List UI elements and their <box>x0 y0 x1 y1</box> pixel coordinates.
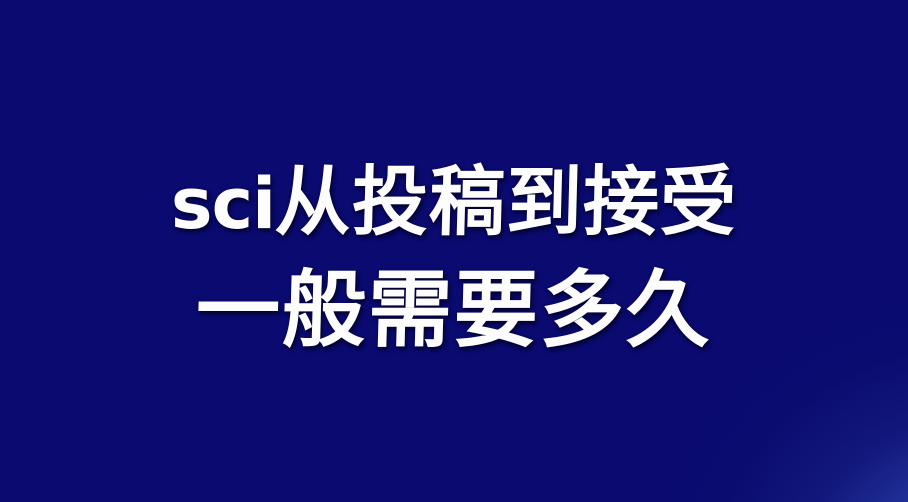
headline-latin-sci: sci <box>171 169 275 239</box>
headline-line-1: sci从投稿到接受 <box>171 164 737 240</box>
poster-canvas: sci从投稿到接受 一般需要多久 <box>0 0 908 502</box>
headline-cjk-segment: 从投稿到接受 <box>274 164 738 240</box>
headline-line-2: 一般需要多久 <box>195 268 713 352</box>
headline-block: sci从投稿到接受 一般需要多久 <box>0 0 908 502</box>
